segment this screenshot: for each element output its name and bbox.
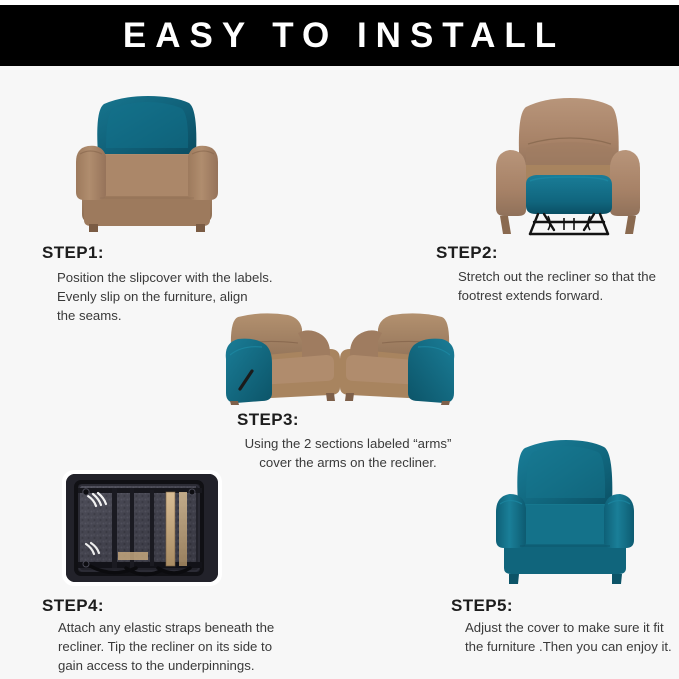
step2-body: Stretch out the recliner so that the foo…	[458, 267, 679, 305]
step5-illustration	[484, 434, 644, 586]
page-title: EASY TO INSTALL	[114, 18, 565, 53]
step3-body: Using the 2 sections labeled “arms” cove…	[216, 434, 480, 472]
step3-label: STEP3:	[237, 410, 299, 430]
step4-label: STEP4:	[42, 596, 104, 616]
header-banner: EASY TO INSTALL	[0, 5, 679, 66]
step5-body: Adjust the cover to make sure it fit the…	[465, 618, 679, 656]
infographic-page: EASY TO INSTALL	[0, 0, 679, 679]
step2-illustration	[478, 88, 658, 236]
step4-illustration	[62, 470, 222, 586]
step1-illustration	[62, 88, 232, 236]
step4-photo	[66, 474, 218, 582]
step5-label: STEP5:	[451, 596, 513, 616]
step2-label: STEP2:	[436, 243, 498, 263]
step1-label: STEP1:	[42, 243, 104, 263]
step3-illustration	[218, 305, 462, 405]
step4-body: Attach any elastic straps beneath the re…	[58, 618, 348, 675]
